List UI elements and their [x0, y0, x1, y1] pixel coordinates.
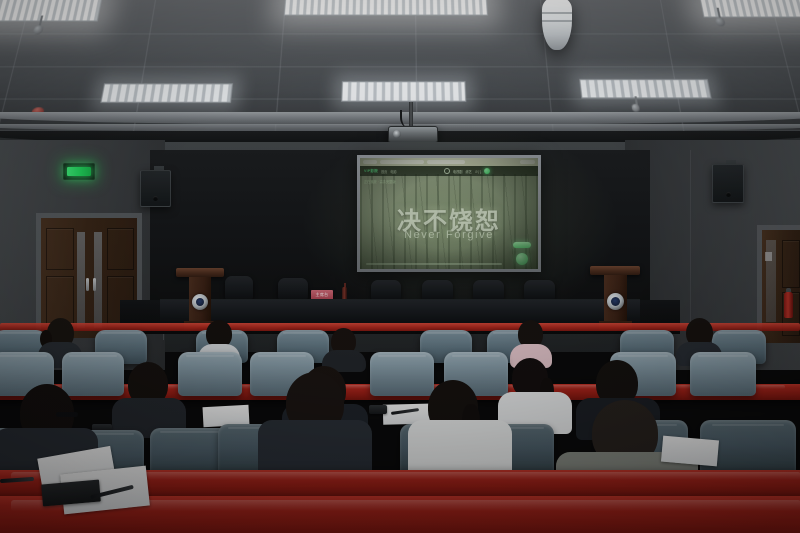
- institution-emblem: [192, 294, 208, 310]
- auditorium-seat[interactable]: [178, 352, 242, 396]
- eyeglasses: [56, 412, 78, 417]
- door-handle-left[interactable]: [86, 278, 89, 291]
- auditorium-photo: VIP影院 首页 电影 电视剧 综艺 少儿 正在播放 · 高清完整版 决不饶恕 …: [0, 0, 800, 533]
- presider-chair[interactable]: [524, 280, 555, 300]
- presider-chair[interactable]: [278, 278, 308, 300]
- projector-lens: [393, 130, 401, 138]
- auditorium-seat[interactable]: [62, 352, 124, 396]
- auditorium-seat[interactable]: [370, 352, 434, 396]
- projection-screen: VIP影院 首页 电影 电视剧 综艺 少儿 正在播放 · 高清完整版 决不饶恕 …: [360, 158, 538, 269]
- emergency-exit-sign: [63, 163, 95, 180]
- name-placard-text: 主席台: [316, 292, 329, 298]
- mobile-phone: [369, 405, 387, 414]
- ceiling-lamp-panel: [100, 83, 233, 103]
- wall-speaker-right: [712, 164, 744, 203]
- presider-chair[interactable]: [371, 280, 401, 300]
- presider-chair[interactable]: [422, 280, 453, 300]
- lectern-right: [590, 266, 640, 330]
- auditorium-seat[interactable]: [690, 352, 756, 396]
- ceiling-lamp-panel: [341, 81, 466, 102]
- attendee: [408, 420, 512, 476]
- institution-emblem: [607, 293, 624, 310]
- handout-paper: [661, 436, 719, 467]
- door-handle-left-b[interactable]: [93, 278, 96, 291]
- ceiling-lamp-panel: [284, 0, 488, 16]
- presider-chair[interactable]: [473, 280, 504, 300]
- ceiling-lamp-panel: [699, 0, 800, 18]
- ceiling-lamp-panel: [0, 0, 103, 21]
- sprinkler-head: [631, 104, 640, 112]
- sprinkler-head: [715, 18, 726, 27]
- head-table: [160, 299, 640, 326]
- fire-extinguisher: [784, 292, 793, 318]
- presider-chair[interactable]: [225, 276, 253, 300]
- wall-speaker-left: [140, 170, 171, 207]
- ceiling-lamp-panel: [579, 79, 711, 98]
- wall-notice: [765, 252, 772, 261]
